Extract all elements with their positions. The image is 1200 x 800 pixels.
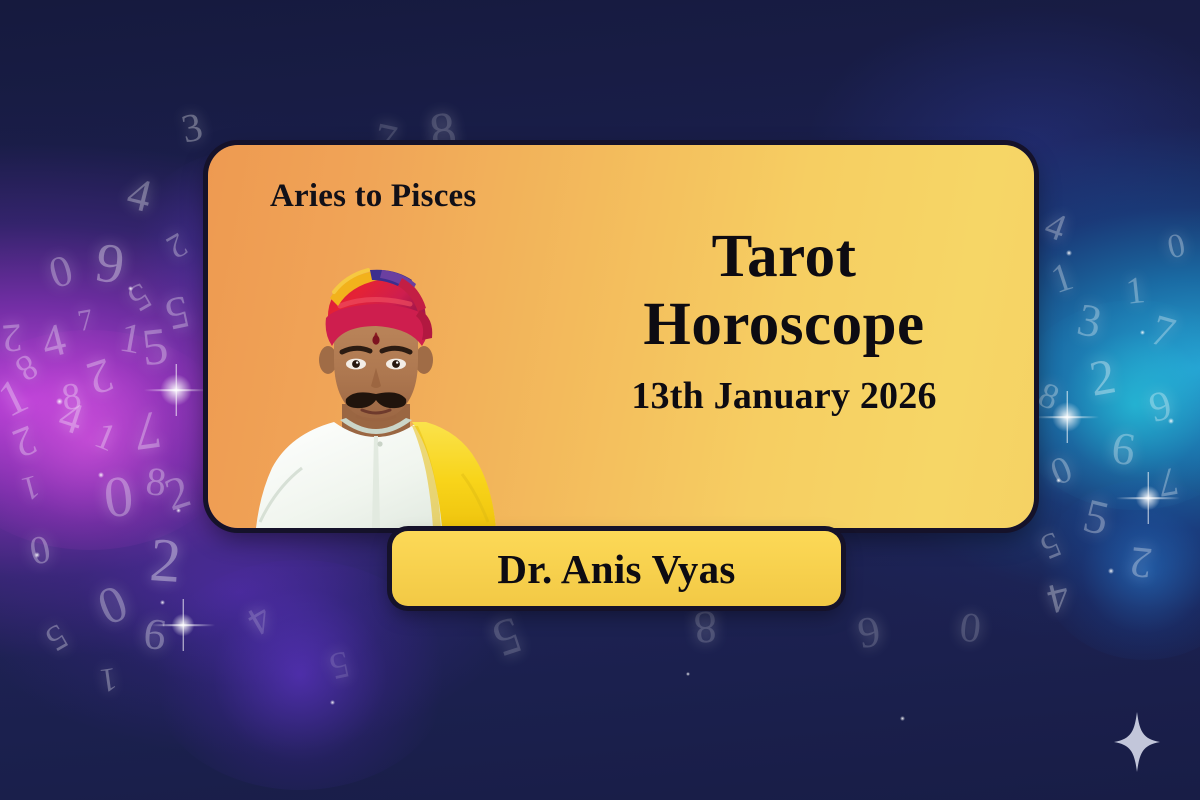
background-numeral: 1 — [1124, 271, 1147, 311]
star-dot — [686, 672, 690, 676]
star-dot — [56, 398, 63, 405]
card-date: 13th January 2026 — [558, 374, 1010, 418]
presenter-name-banner: Dr. Anis Vyas — [392, 531, 841, 606]
background-numeral: 0 — [1046, 450, 1078, 492]
background-numeral: 5 — [40, 618, 74, 658]
background-numeral: 0 — [26, 528, 54, 571]
background-numeral: 8 — [59, 377, 83, 417]
star-dot — [160, 600, 165, 605]
background-numeral: 2 — [159, 468, 195, 519]
glow-blob-cyan — [1010, 300, 1200, 510]
background-numeral: 0 — [958, 605, 983, 649]
background-numeral: 5 — [1079, 492, 1114, 544]
background-numeral: 8 — [692, 603, 718, 650]
star-dot — [34, 552, 40, 558]
background-numeral: 7 — [130, 402, 164, 459]
background-numeral: 4 — [1040, 206, 1071, 248]
star-dot — [1168, 418, 1174, 424]
background-numeral: 1 — [1046, 256, 1077, 300]
star-dot — [128, 286, 133, 291]
lens-flare-star — [1134, 484, 1162, 512]
background-numeral: 2 — [0, 317, 23, 359]
background-numeral: 5 — [139, 321, 170, 375]
card-title-block: Tarot Horoscope 13th January 2026 — [558, 223, 1010, 418]
sparkle-icon — [1114, 712, 1160, 772]
background-numeral: 4 — [123, 170, 156, 220]
background-numeral: 1 — [0, 369, 35, 425]
background-numeral: 8 — [144, 461, 168, 503]
poster-canvas: 0 9 2 5 7 5 2 4 1 5 8 2 4 8 1 7 1 2 0 8 … — [0, 0, 1200, 800]
background-numeral: 0 — [44, 248, 77, 296]
background-numeral: 1 — [18, 468, 43, 505]
background-numeral: 5 — [161, 288, 193, 338]
background-numeral: 7 — [1146, 308, 1179, 356]
lens-flare-star — [1050, 400, 1084, 434]
background-numeral: 0 — [1165, 229, 1189, 266]
horoscope-card: Aries to Pisces Tarot Horoscope 13th Jan… — [208, 145, 1034, 528]
glow-blob-magenta — [0, 330, 240, 550]
background-numeral: 4 — [241, 598, 278, 643]
background-numeral: 0 — [91, 577, 135, 635]
star-dot — [330, 700, 335, 705]
page-title-line-2: Horoscope — [558, 291, 1010, 359]
star-dot — [1140, 330, 1145, 335]
background-numeral: 2 — [148, 529, 183, 593]
background-numeral: 5 — [122, 276, 157, 318]
page-title-line-1: Tarot — [558, 223, 1010, 291]
background-numeral: 9 — [1145, 384, 1176, 430]
lens-flare-star — [170, 612, 196, 638]
background-numeral: 7 — [1155, 461, 1182, 504]
background-numeral: 2 — [1128, 539, 1154, 585]
glow-blob-blue — [1040, 480, 1200, 660]
background-numeral: 5 — [326, 644, 352, 685]
presenter-name: Dr. Anis Vyas — [497, 545, 735, 593]
background-numeral: 2 — [81, 349, 119, 402]
star-dot — [1056, 478, 1061, 483]
background-numeral: 5 — [1036, 526, 1066, 566]
star-dot — [98, 472, 104, 478]
star-dot — [1066, 250, 1072, 256]
background-numeral: 4 — [37, 316, 70, 366]
lens-flare-star — [158, 372, 194, 408]
background-numeral: 3 — [1073, 296, 1105, 346]
background-numeral: 1 — [98, 661, 120, 697]
background-numeral: 8 — [1034, 376, 1064, 416]
background-numeral: 2 — [1086, 350, 1119, 404]
background-numeral: 2 — [7, 418, 42, 465]
astrologer-portrait — [230, 236, 522, 528]
star-dot — [176, 508, 181, 513]
background-numeral: 5 — [487, 607, 528, 664]
background-numeral: 4 — [54, 394, 89, 443]
background-numeral: 6 — [1109, 425, 1138, 474]
background-numeral: 8 — [10, 348, 44, 388]
background-numeral: 9 — [92, 234, 128, 293]
background-numeral: 1 — [117, 316, 145, 361]
star-dot — [900, 716, 905, 721]
background-numeral: 2 — [161, 226, 193, 264]
background-numeral: 4 — [1043, 574, 1074, 620]
background-numeral: 0 — [101, 467, 136, 528]
background-numeral: 3 — [178, 106, 206, 149]
star-dot — [1108, 568, 1114, 574]
background-numeral: 9 — [142, 611, 168, 657]
background-numeral: 1 — [90, 416, 122, 458]
background-numeral: 6 — [855, 609, 883, 656]
card-kicker: Aries to Pisces — [270, 178, 476, 215]
background-numeral: 7 — [76, 305, 96, 337]
